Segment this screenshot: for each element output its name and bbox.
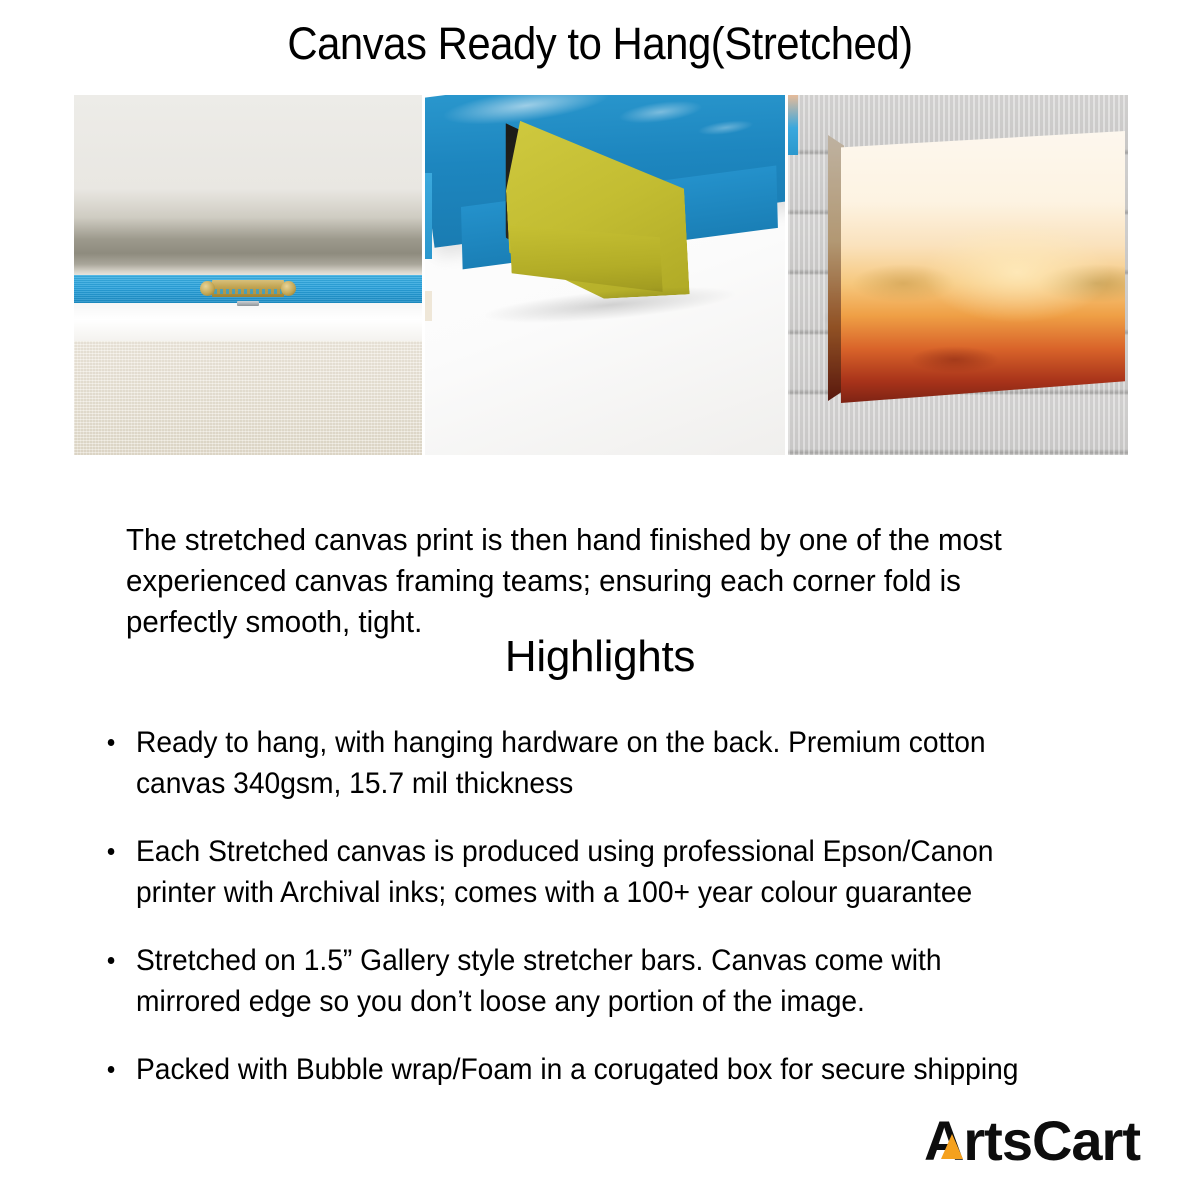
list-item-text: Packed with Bubble wrap/Foam in a coruga… xyxy=(136,1053,1019,1086)
hanger-bar xyxy=(212,280,284,297)
list-item-text: Each Stretched canvas is produced using … xyxy=(136,835,994,909)
list-item: Ready to hang, with hanging hardware on … xyxy=(104,722,1053,804)
hanger-hook xyxy=(237,301,259,306)
canvas-white-band xyxy=(74,303,422,345)
bullet-icon xyxy=(108,848,115,855)
adjacent-photo-edge-blue xyxy=(425,173,432,259)
photo-canvas-corner-fold xyxy=(425,95,785,455)
adjacent-photo-edge xyxy=(788,95,798,155)
hanger-screw-right xyxy=(281,281,296,296)
bullet-icon xyxy=(108,957,115,964)
list-item-text: Stretched on 1.5” Gallery style stretche… xyxy=(136,944,942,1018)
list-item: Each Stretched canvas is produced using … xyxy=(104,831,1053,913)
cotton-canvas-texture xyxy=(74,341,422,455)
sunset-landscape-print xyxy=(841,131,1125,403)
bullet-icon xyxy=(108,1066,115,1073)
hanger-screw-left xyxy=(200,281,215,296)
product-image-gallery xyxy=(74,95,1128,455)
list-item-text: Ready to hang, with hanging hardware on … xyxy=(136,726,986,800)
brand-logo: ArtsCart xyxy=(924,1110,1140,1172)
list-item: Stretched on 1.5” Gallery style stretche… xyxy=(104,940,1053,1022)
list-item: Packed with Bubble wrap/Foam in a coruga… xyxy=(104,1049,1053,1090)
sawtooth-hanger-icon xyxy=(200,279,296,299)
highlights-heading: Highlights xyxy=(0,630,1200,684)
photo-canvas-hung-on-wall xyxy=(788,95,1128,455)
triangle-icon xyxy=(941,1134,963,1159)
photo-canvas-back-hanger xyxy=(74,95,422,455)
intro-paragraph: The stretched canvas print is then hand … xyxy=(126,519,1038,642)
bullet-icon xyxy=(108,739,115,746)
page-title: Canvas Ready to Hang(Stretched) xyxy=(42,16,1158,72)
adjacent-photo-edge-beige xyxy=(425,291,432,321)
highlights-list: Ready to hang, with hanging hardware on … xyxy=(104,722,1114,1090)
